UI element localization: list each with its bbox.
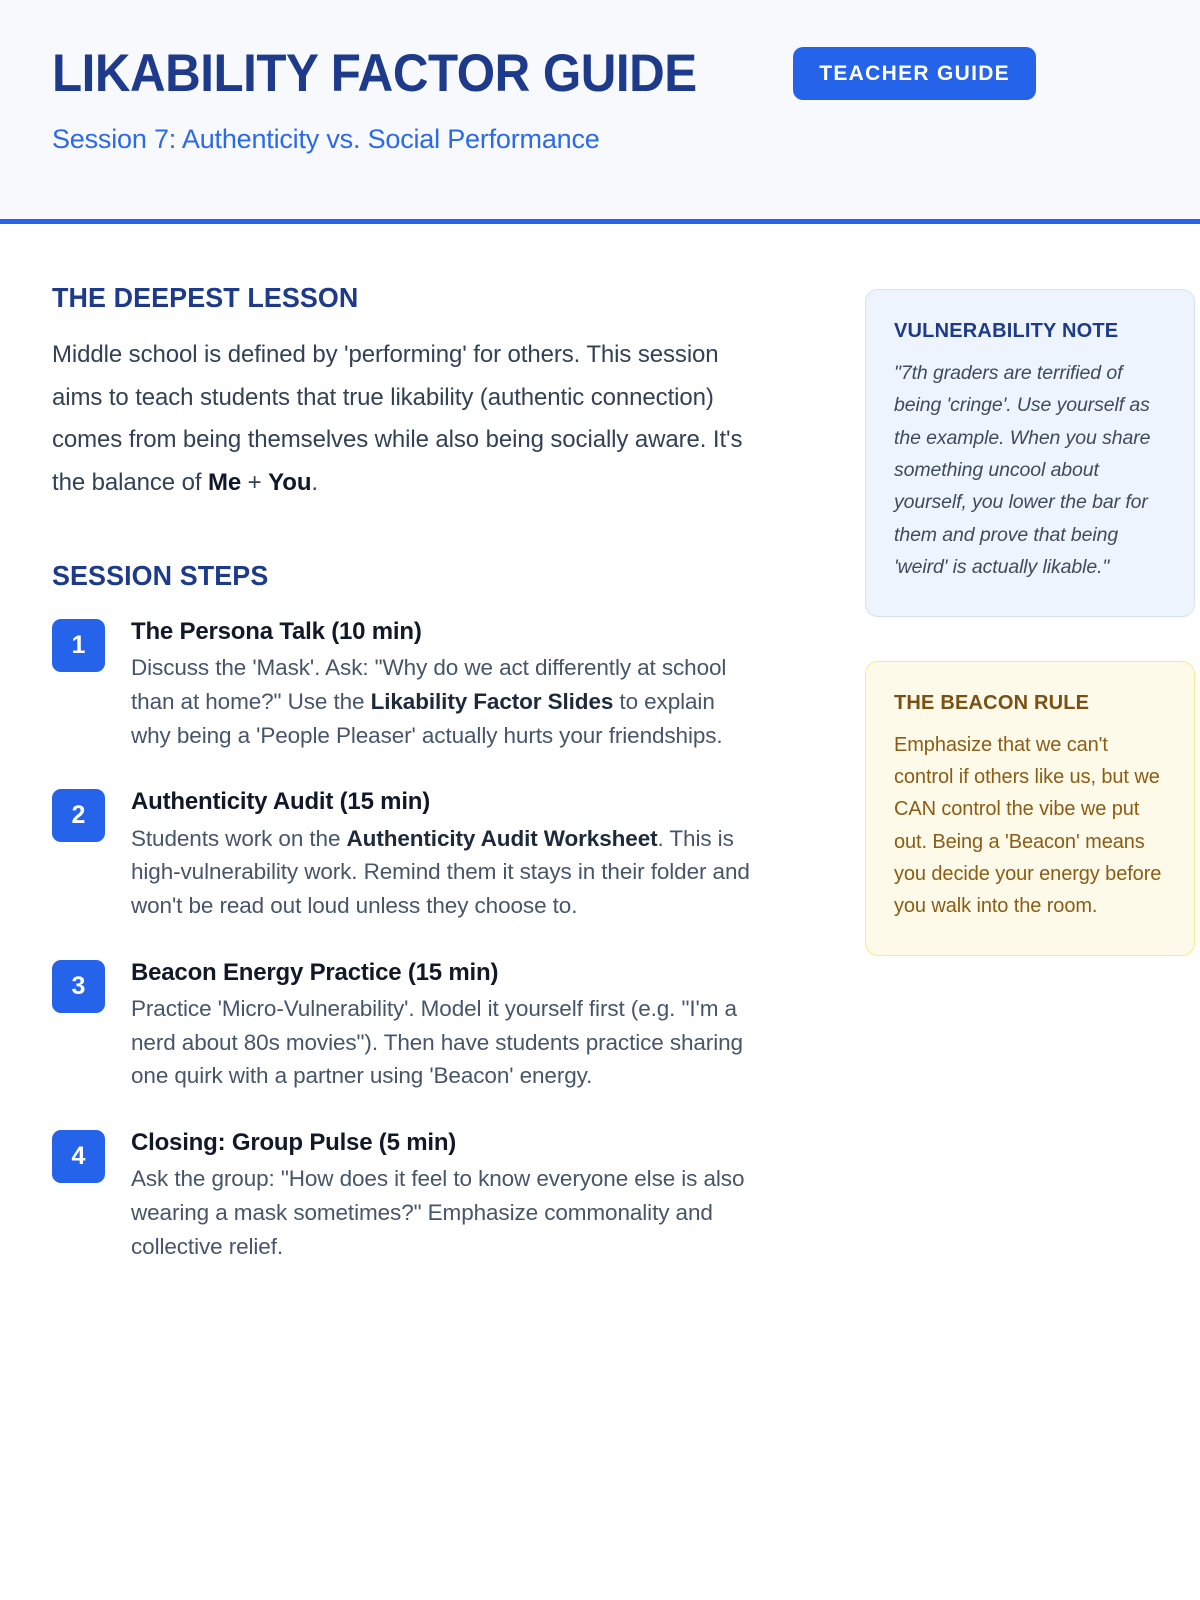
beacon-rule-text: Emphasize that we can't control if other… (894, 729, 1166, 923)
step-number-badge: 4 (52, 1130, 105, 1183)
main-column: THE DEEPEST LESSON Middle school is defi… (52, 282, 757, 1298)
step-desc-bold: Authenticity Audit Worksheet (347, 826, 658, 851)
step-body: Closing: Group Pulse (5 min) Ask the gro… (131, 1127, 757, 1263)
step-title: Authenticity Audit (15 min) (131, 786, 757, 817)
page-header: LIKABILITY FACTOR GUIDE TEACHER GUIDE Se… (0, 0, 1200, 224)
step-body: Authenticity Audit (15 min) Students wor… (131, 786, 757, 922)
lesson-bold-you: You (268, 469, 311, 496)
step-title: Closing: Group Pulse (5 min) (131, 1127, 757, 1158)
page-title: LIKABILITY FACTOR GUIDE (52, 46, 697, 102)
step-description: Practice 'Micro-Vulnerability'. Model it… (131, 992, 757, 1093)
step-desc-part1: Practice 'Micro-Vulnerability'. Model it… (131, 996, 743, 1089)
lesson-text-end: . (311, 469, 318, 496)
header-top-row: LIKABILITY FACTOR GUIDE TEACHER GUIDE (52, 46, 1148, 102)
teacher-guide-badge[interactable]: TEACHER GUIDE (793, 47, 1036, 100)
step-number-badge: 3 (52, 960, 105, 1013)
session-steps-heading: SESSION STEPS (52, 560, 729, 592)
step-item: 4 Closing: Group Pulse (5 min) Ask the g… (52, 1127, 757, 1263)
step-description: Students work on the Authenticity Audit … (131, 822, 757, 923)
step-title: The Persona Talk (10 min) (131, 616, 757, 647)
step-item: 1 The Persona Talk (10 min) Discuss the … (52, 616, 757, 752)
step-body: Beacon Energy Practice (15 min) Practice… (131, 957, 757, 1093)
step-item: 2 Authenticity Audit (15 min) Students w… (52, 786, 757, 922)
step-description: Ask the group: "How does it feel to know… (131, 1162, 757, 1263)
lesson-text-part1: Middle school is defined by 'performing'… (52, 341, 742, 496)
step-desc-part1: Ask the group: "How does it feel to know… (131, 1166, 744, 1259)
deepest-lesson-heading: THE DEEPEST LESSON (52, 282, 729, 314)
vulnerability-note-title: VULNERABILITY NOTE (894, 320, 1166, 343)
guide-page: LIKABILITY FACTOR GUIDE TEACHER GUIDE Se… (0, 0, 1200, 1600)
beacon-rule-title: THE BEACON RULE (894, 692, 1166, 715)
deepest-lesson-body: Middle school is defined by 'performing'… (52, 334, 757, 505)
beacon-rule-card: THE BEACON RULE Emphasize that we can't … (865, 661, 1195, 956)
step-desc-bold: Likability Factor Slides (371, 689, 614, 714)
step-number-badge: 1 (52, 619, 105, 672)
step-desc-part1: Students work on the (131, 826, 347, 851)
vulnerability-note-card: VULNERABILITY NOTE "7th graders are terr… (865, 289, 1195, 617)
step-number-badge: 2 (52, 789, 105, 842)
lesson-bold-me: Me (208, 469, 241, 496)
lesson-text-mid: + (241, 469, 268, 496)
page-content: THE DEEPEST LESSON Middle school is defi… (0, 224, 1200, 1298)
sidebar-column: VULNERABILITY NOTE "7th graders are terr… (865, 289, 1195, 956)
step-title: Beacon Energy Practice (15 min) (131, 957, 757, 988)
step-item: 3 Beacon Energy Practice (15 min) Practi… (52, 957, 757, 1093)
session-subtitle: Session 7: Authenticity vs. Social Perfo… (52, 124, 1148, 155)
vulnerability-note-text: "7th graders are terrified of being 'cri… (894, 357, 1166, 584)
step-body: The Persona Talk (10 min) Discuss the 'M… (131, 616, 757, 752)
step-description: Discuss the 'Mask'. Ask: "Why do we act … (131, 651, 757, 752)
